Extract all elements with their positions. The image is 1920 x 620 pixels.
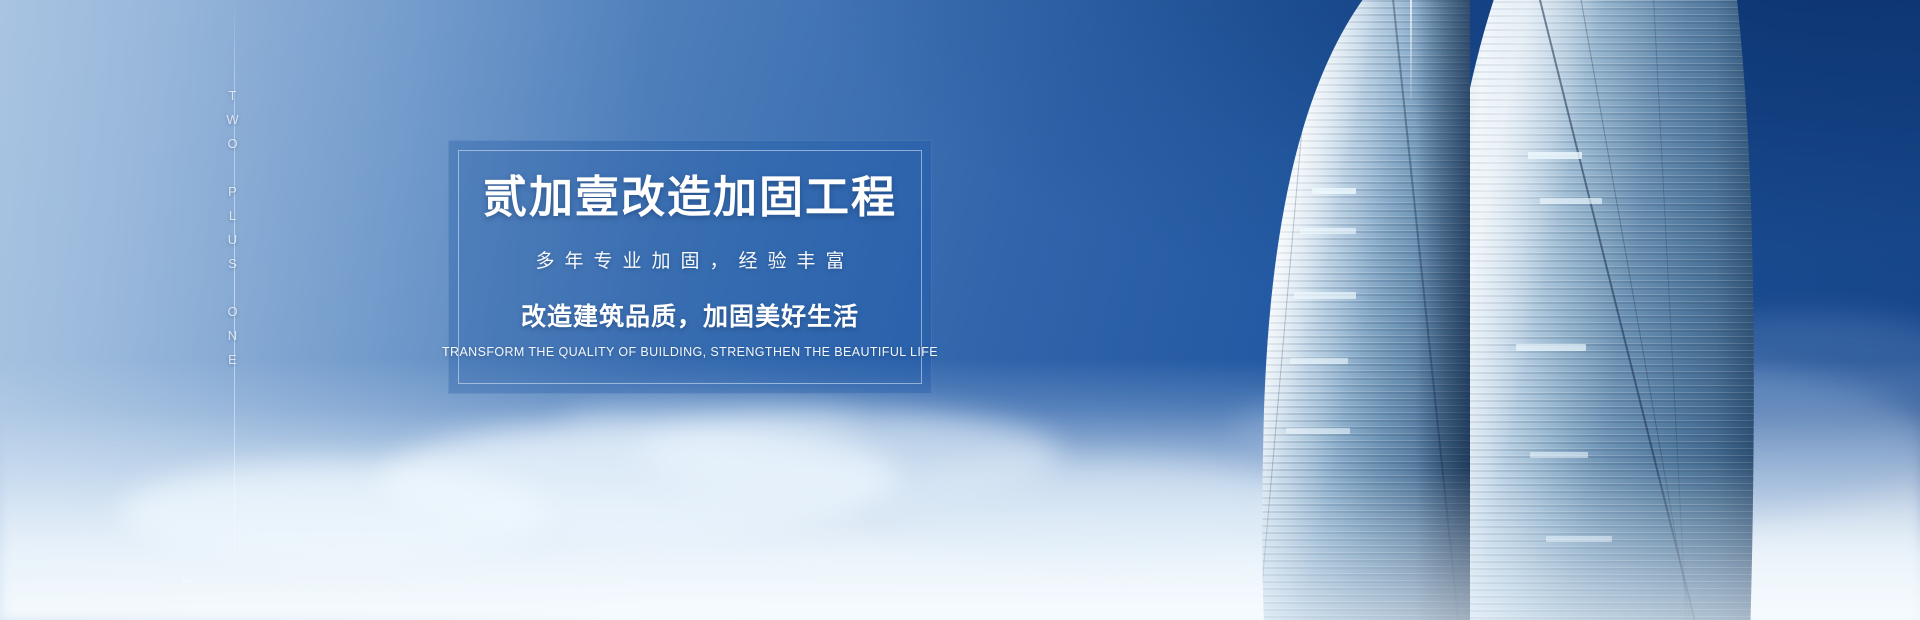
tower-window-light (1290, 358, 1348, 364)
back-glass-tower (1420, 0, 1820, 620)
tower-base-haze (1260, 468, 1470, 620)
vertical-slide-mark: 1 (180, 578, 192, 586)
hero-banner: TWO PLUS ONE 1 贰加壹改造加固工程 多年专业加固，经验丰富 改造建… (0, 0, 1920, 620)
tower-window-light (1300, 228, 1356, 234)
front-glass-tower (1260, 0, 1470, 620)
vertical-brand-label: TWO PLUS ONE (225, 88, 240, 376)
tower-window-light (1286, 428, 1350, 434)
hero-text-panel: 贰加壹改造加固工程 多年专业加固，经验丰富 改造建筑品质，加固美好生活 TRAN… (448, 140, 932, 394)
panel-content: 贰加壹改造加固工程 多年专业加固，经验丰富 改造建筑品质，加固美好生活 TRAN… (449, 141, 931, 393)
hero-subline: 多年专业加固，经验丰富 (525, 246, 854, 273)
tower-window-light (1528, 152, 1582, 159)
hero-english-subtitle: TRANSFORM THE QUALITY OF BUILDING, STREN… (442, 345, 938, 359)
hero-headline: 贰加壹改造加固工程 (483, 176, 897, 220)
tower-spire (1410, 0, 1412, 100)
tower-window-light (1540, 198, 1602, 204)
tower-window-light (1516, 344, 1586, 351)
tower-base-haze (1420, 458, 1820, 620)
hero-tagline: 改造建筑品质，加固美好生活 (521, 297, 859, 333)
skyscraper-scene (1020, 0, 1920, 620)
tower-window-light (1312, 188, 1356, 194)
tower-window-light (1294, 292, 1356, 299)
